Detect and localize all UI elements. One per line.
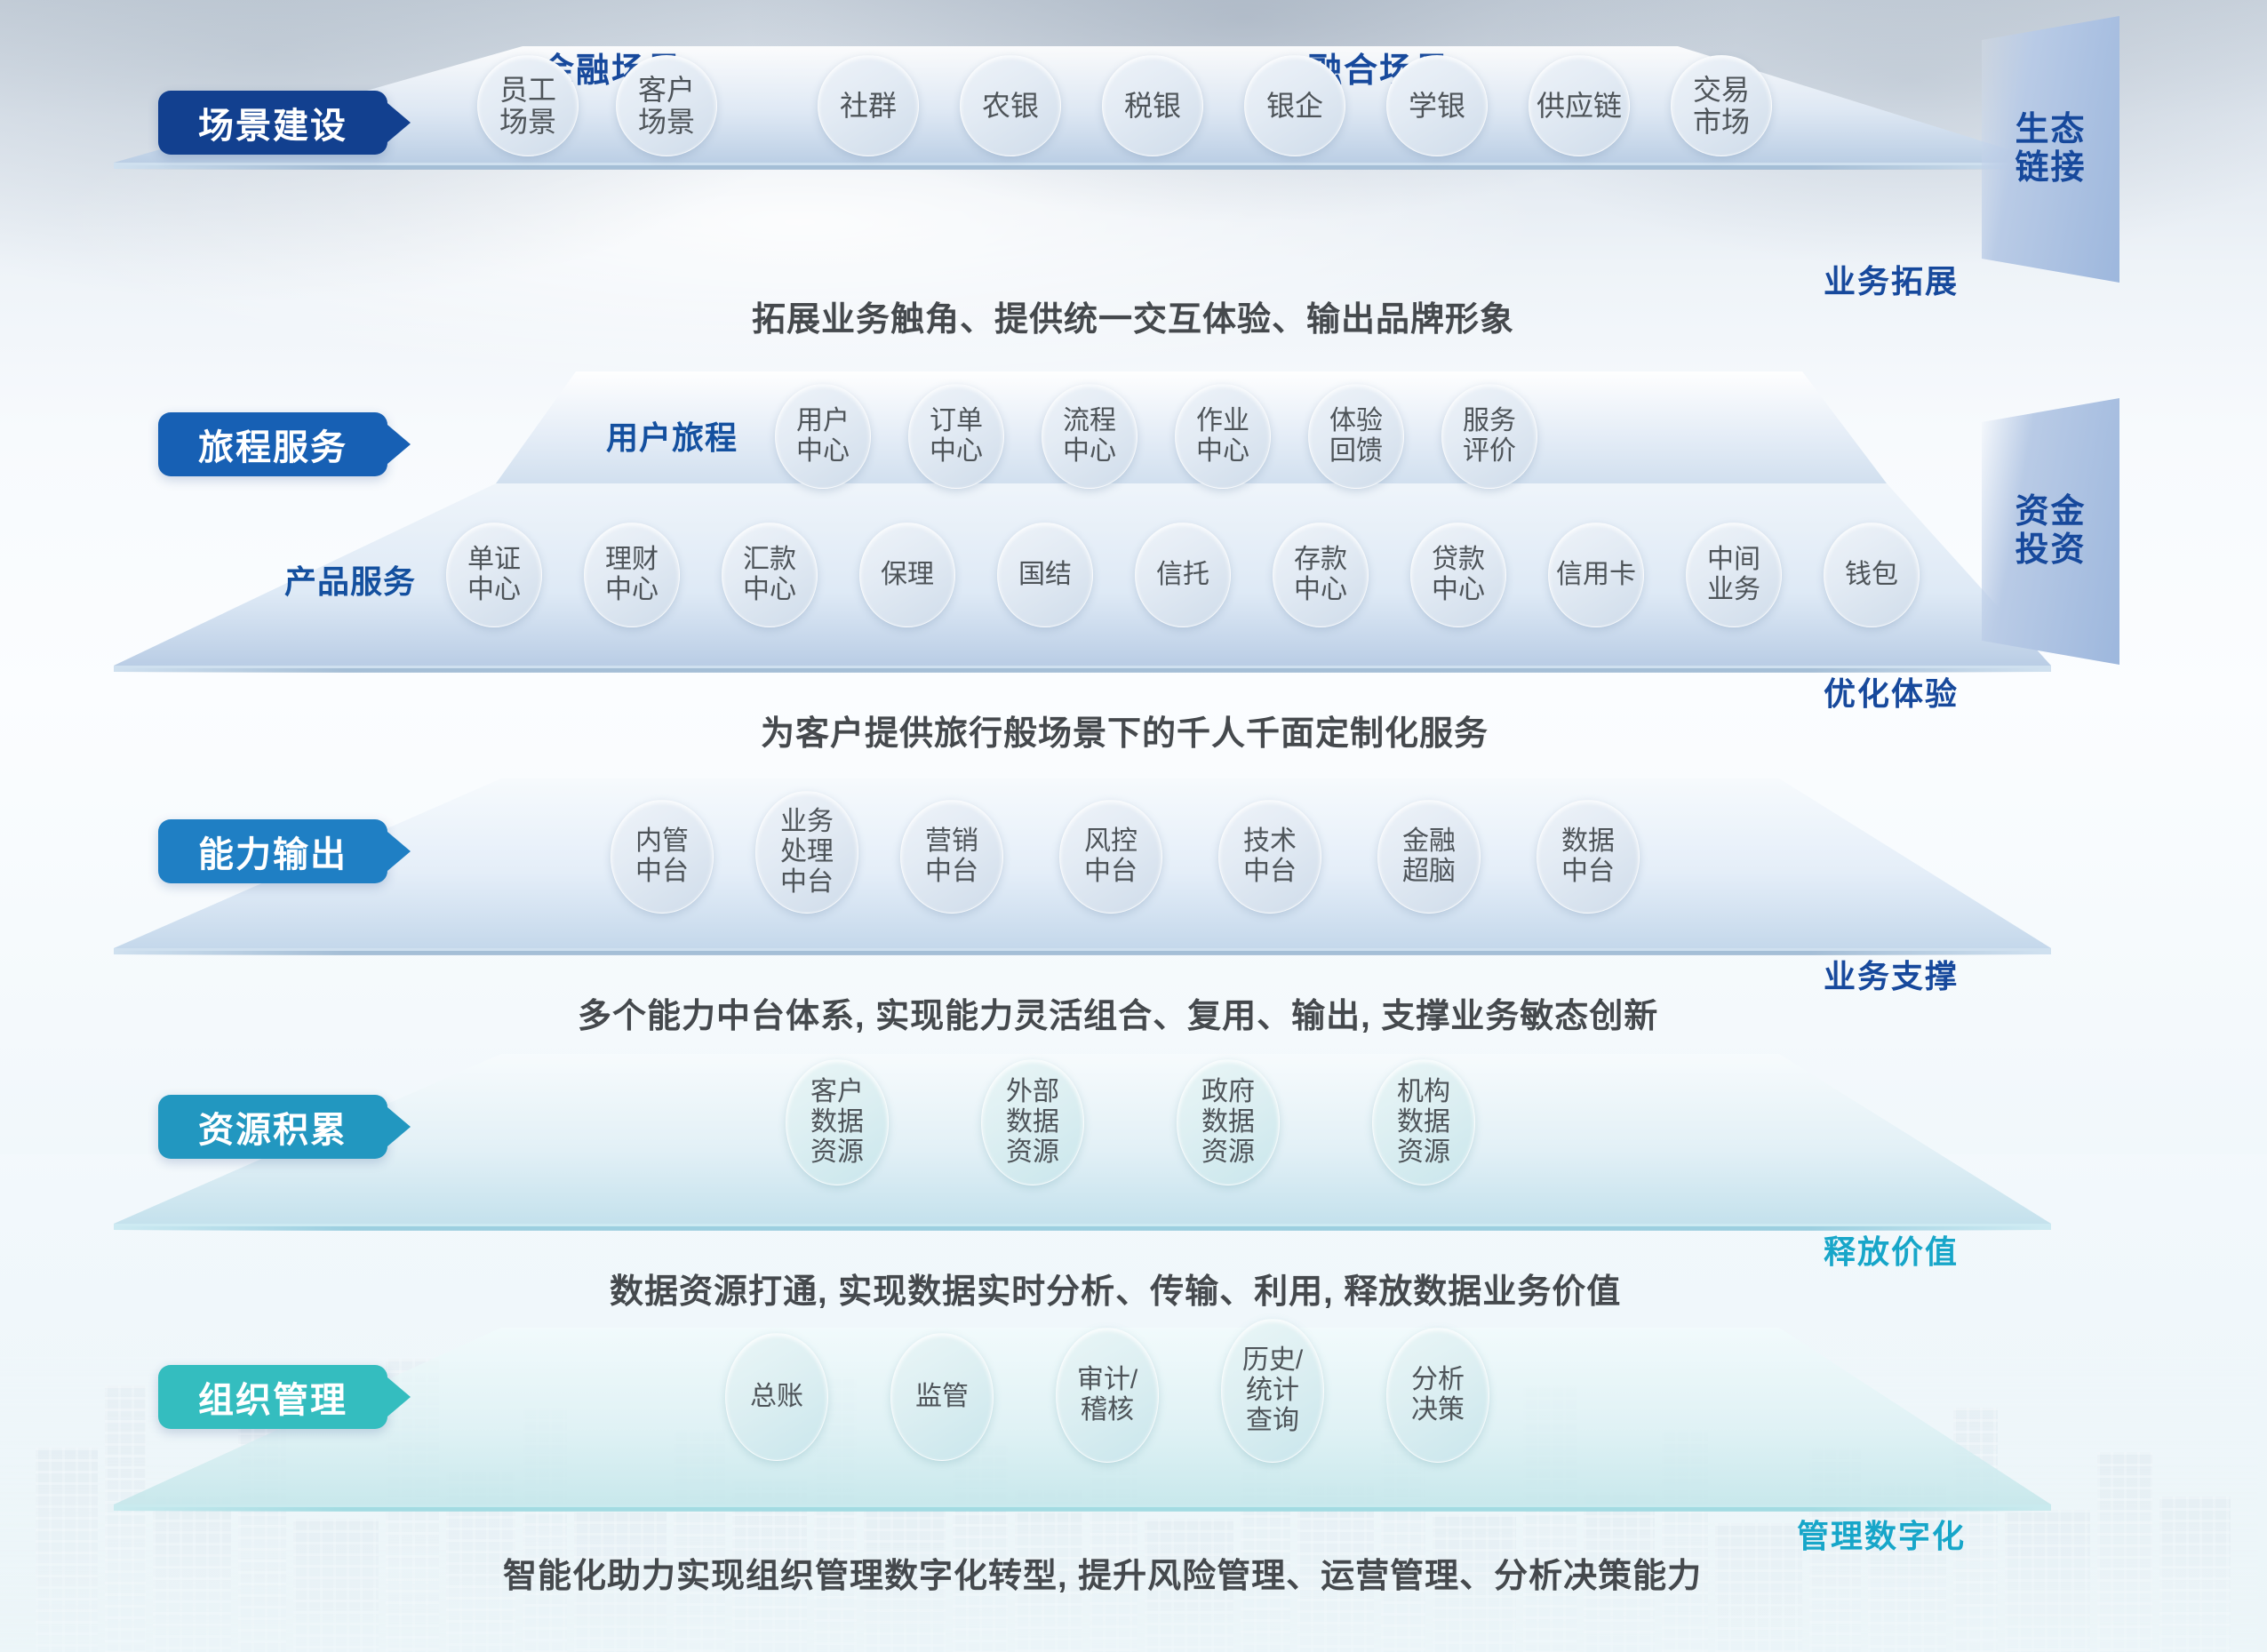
node-customer-data-resource[interactable]: 客户 数据 资源 (786, 1059, 889, 1185)
node-data-platform[interactable]: 数据 中台 (1537, 800, 1640, 914)
node-label: 总账 (750, 1382, 803, 1412)
node-label: 客户 数据 资源 (810, 1077, 864, 1169)
right-label-business-expansion: 业务拓展 (1824, 256, 1959, 302)
node-technology-platform[interactable]: 技术 中台 (1218, 800, 1321, 914)
flag-funding-investment-label: 资金 投资 (2015, 493, 2086, 571)
node-label: 审计/ 稽核 (1077, 1365, 1137, 1425)
node-general-ledger[interactable]: 总账 (725, 1333, 828, 1461)
tier-desc-scene: 拓展业务触角、提供统一交互体验、输出品牌形象 (752, 291, 1514, 340)
node-deposit-center[interactable]: 存款 中心 (1273, 523, 1369, 627)
node-business-processing-platform[interactable]: 业务 处理 中台 (755, 791, 858, 914)
node-analysis-decision[interactable]: 分析 决策 (1386, 1328, 1489, 1463)
node-label: 服务 评价 (1463, 406, 1516, 467)
tier-tag-organization-label: 组织管理 (198, 1371, 347, 1423)
node-label: 信用卡 (1556, 560, 1636, 590)
node-label: 银企 (1266, 90, 1323, 122)
node-tax-bank[interactable]: 税银 (1102, 55, 1203, 156)
node-employee-scene[interactable]: 员工 场景 (477, 55, 579, 156)
tier-tag-resource-label: 资源积累 (198, 1101, 347, 1153)
tier-organization-baseline (114, 1507, 2042, 1512)
node-label: 营销 中台 (925, 826, 978, 887)
node-label: 历史/ 统计 查询 (1242, 1345, 1303, 1437)
node-label: 风控 中台 (1084, 826, 1137, 887)
right-label-optimize-experience: 优化体验 (1824, 668, 1959, 714)
tier-tag-scene[interactable]: 场景建设 (158, 91, 387, 155)
node-community[interactable]: 社群 (818, 55, 919, 156)
node-school-bank[interactable]: 学银 (1386, 55, 1488, 156)
node-label: 交易 市场 (1693, 74, 1750, 139)
flag-funding-investment: 资金 投资 (1982, 398, 2119, 665)
tier-capability-baseline (114, 951, 2042, 955)
node-label: 订单 中心 (930, 406, 983, 467)
node-label: 保理 (881, 560, 934, 590)
node-history-statistics-query[interactable]: 历史/ 统计 查询 (1221, 1319, 1324, 1463)
right-label-release-value: 释放价值 (1824, 1226, 1959, 1273)
node-international-settlement[interactable]: 国结 (997, 523, 1093, 627)
tier-tag-capability-label: 能力输出 (198, 826, 347, 877)
node-government-data-resource[interactable]: 政府 数据 资源 (1177, 1059, 1280, 1185)
tier-tag-organization[interactable]: 组织管理 (158, 1365, 387, 1429)
node-label: 分析 决策 (1411, 1365, 1465, 1425)
node-remittance-center[interactable]: 汇款 中心 (722, 523, 818, 627)
tier-tag-resource[interactable]: 资源积累 (158, 1095, 387, 1159)
tier-journey-baseline (114, 668, 2042, 673)
node-external-data-resource[interactable]: 外部 数据 资源 (981, 1059, 1084, 1185)
node-label: 学银 (1409, 90, 1465, 122)
node-label: 税银 (1124, 90, 1181, 122)
flag-ecosystem-link: 生态 链接 (1982, 16, 2119, 283)
tier-tag-journey[interactable]: 旅程服务 (158, 412, 387, 476)
node-label: 供应链 (1537, 90, 1622, 122)
node-label: 员工 场景 (499, 74, 556, 139)
node-label: 监管 (915, 1382, 969, 1412)
node-label: 存款 中心 (1294, 545, 1347, 605)
node-trust[interactable]: 信托 (1135, 523, 1231, 627)
node-label: 用户 中心 (796, 406, 850, 467)
node-customer-scene[interactable]: 客户 场景 (616, 55, 717, 156)
node-user-center[interactable]: 用户 中心 (775, 384, 871, 489)
node-audit-inspection[interactable]: 审计/ 稽核 (1056, 1328, 1159, 1463)
tier-desc-organization: 智能化助力实现组织管理数字化转型, 提升风险管理、运营管理、分析决策能力 (503, 1548, 1702, 1597)
node-marketing-platform[interactable]: 营销 中台 (900, 800, 1003, 914)
tier-desc-capability: 多个能力中台体系, 实现能力灵活组合、复用、输出, 支撑业务敏态创新 (578, 988, 1658, 1037)
node-experience-feedback[interactable]: 体验 回馈 (1308, 384, 1404, 489)
group-caption-user-journey: 用户旅程 (606, 412, 738, 459)
node-risk-control-platform[interactable]: 风控 中台 (1059, 800, 1162, 914)
node-label: 客户 场景 (638, 74, 695, 139)
node-operation-center[interactable]: 作业 中心 (1175, 384, 1271, 489)
node-credit-card[interactable]: 信用卡 (1548, 523, 1644, 627)
node-order-center[interactable]: 订单 中心 (908, 384, 1004, 489)
node-process-center[interactable]: 流程 中心 (1042, 384, 1137, 489)
node-label: 金融 超脑 (1402, 826, 1456, 887)
node-label: 政府 数据 资源 (1201, 1077, 1255, 1169)
node-label: 汇款 中心 (743, 545, 796, 605)
node-wealth-center[interactable]: 理财 中心 (584, 523, 680, 627)
node-label: 流程 中心 (1063, 406, 1116, 467)
right-label-business-support: 业务支撑 (1824, 951, 1959, 997)
flag-ecosystem-link-label: 生态 链接 (2015, 111, 2086, 188)
node-label: 贷款 中心 (1432, 545, 1485, 605)
node-label: 外部 数据 资源 (1006, 1077, 1059, 1169)
node-label: 钱包 (1845, 560, 1898, 590)
tier-tag-journey-label: 旅程服务 (198, 419, 347, 470)
node-label: 理财 中心 (605, 545, 659, 605)
node-label: 农银 (982, 90, 1039, 122)
tier-resource-baseline (114, 1226, 2042, 1231)
node-document-center[interactable]: 单证 中心 (446, 523, 542, 627)
node-supervision[interactable]: 监管 (890, 1333, 994, 1461)
tier-desc-journey: 为客户提供旅行般场景下的千人千面定制化服务 (761, 706, 1489, 754)
node-intermediary-business[interactable]: 中间 业务 (1686, 523, 1782, 627)
node-loan-center[interactable]: 贷款 中心 (1410, 523, 1506, 627)
node-label: 业务 处理 中台 (780, 807, 834, 898)
node-trading-market[interactable]: 交易 市场 (1671, 55, 1772, 156)
node-label: 体验 回馈 (1329, 406, 1383, 467)
node-financial-brain[interactable]: 金融 超脑 (1377, 800, 1481, 914)
group-caption-product-service: 产品服务 (284, 556, 416, 603)
node-label: 中间 业务 (1707, 545, 1760, 605)
node-bank-enterprise[interactable]: 银企 (1244, 55, 1345, 156)
node-label: 国结 (1018, 560, 1072, 590)
node-service-rating[interactable]: 服务 评价 (1441, 384, 1537, 489)
node-agri-bank[interactable]: 农银 (960, 55, 1061, 156)
node-supply-chain[interactable]: 供应链 (1529, 55, 1630, 156)
node-label: 作业 中心 (1196, 406, 1249, 467)
node-institution-data-resource[interactable]: 机构 数据 资源 (1372, 1059, 1475, 1185)
tier-desc-resource: 数据资源打通, 实现数据实时分析、传输、利用, 释放数据业务价值 (610, 1264, 1621, 1313)
node-label: 单证 中心 (467, 545, 521, 605)
tier-tag-scene-label: 场景建设 (198, 97, 347, 148)
architecture-diagram: 场景建设 金融场景 融合场景 员工 场景 客户 场景 社群 农银 税银 银企 学… (0, 0, 2267, 1652)
right-label-management-digitization: 管理数字化 (1797, 1511, 1966, 1557)
node-wallet[interactable]: 钱包 (1824, 523, 1920, 627)
node-label: 内管 中台 (635, 826, 689, 887)
node-label: 机构 数据 资源 (1397, 1077, 1450, 1169)
node-label: 数据 中台 (1561, 826, 1615, 887)
node-factoring[interactable]: 保理 (859, 523, 955, 627)
node-label: 信托 (1156, 560, 1209, 590)
tier-tag-capability[interactable]: 能力输出 (158, 819, 387, 883)
node-internal-mgmt-platform[interactable]: 内管 中台 (611, 800, 714, 914)
node-label: 社群 (840, 90, 897, 122)
tier-scene-baseline (114, 165, 2042, 170)
node-label: 技术 中台 (1243, 826, 1297, 887)
